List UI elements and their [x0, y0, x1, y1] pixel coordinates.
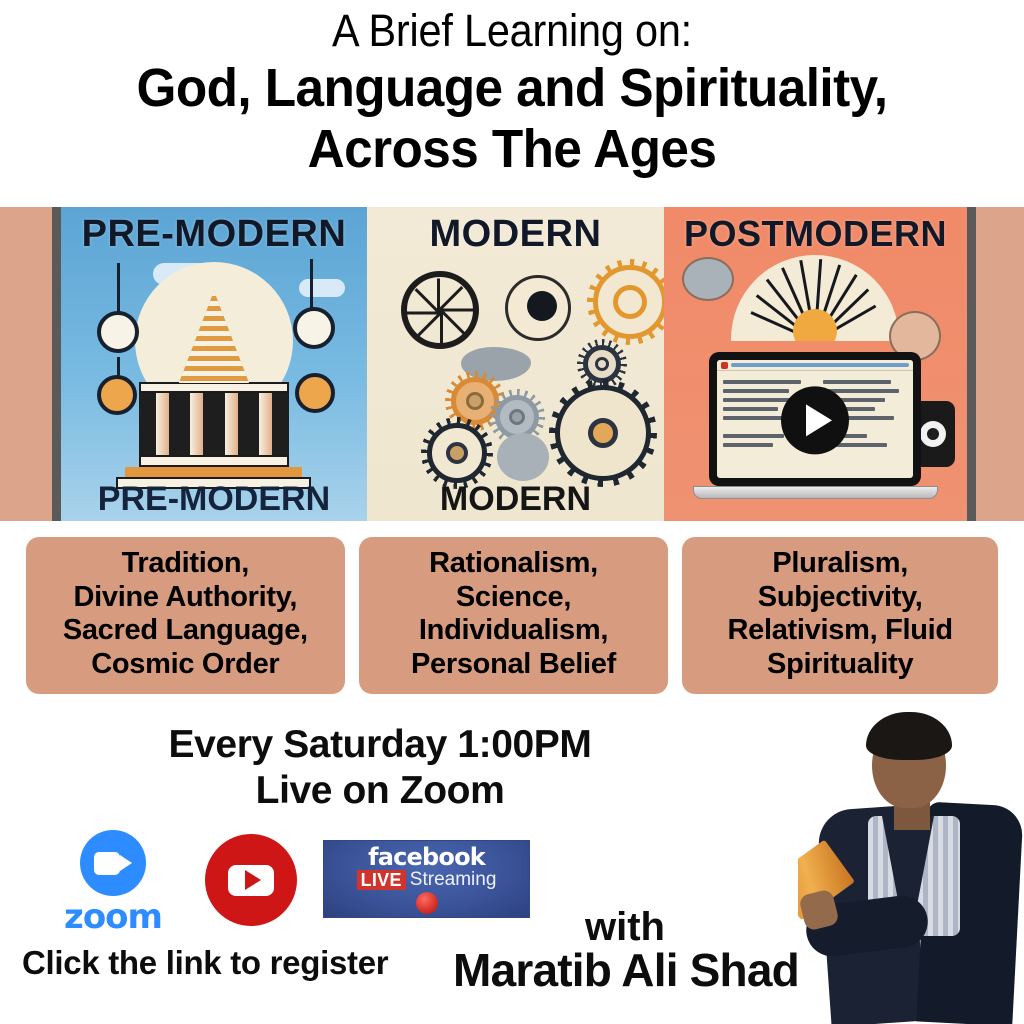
panel-heading-pre-modern: PRE-MODERN	[61, 213, 367, 256]
browser-bar	[717, 360, 913, 371]
temple-column	[225, 393, 238, 455]
era-illustration-panel: PRE-MODERN PRE-MODERN	[0, 207, 1024, 521]
pendulum-rod-icon	[310, 259, 313, 309]
panel-frame: PRE-MODERN PRE-MODERN	[52, 207, 976, 521]
coin-icon	[295, 373, 335, 413]
compass-icon	[97, 311, 139, 353]
disc-shape	[497, 433, 549, 481]
panel-right-margin	[976, 207, 1024, 521]
panel-left-margin	[0, 207, 52, 521]
gear-icon	[555, 385, 651, 481]
gear-icon	[583, 345, 621, 383]
laptop-lid	[709, 352, 921, 486]
zoom-logo[interactable]: zoom	[48, 830, 178, 937]
panel-footer-modern: MODERN	[367, 480, 664, 519]
schedule-text: Every Saturday 1:00PM Live on Zoom	[0, 722, 760, 814]
browser-dot	[721, 362, 728, 369]
zoom-wordmark: zoom	[48, 897, 178, 937]
title-main-line-2: Across The Ages	[26, 119, 999, 179]
keyword-box-post-modern: Pluralism, Subjectivity, Relativism, Flu…	[682, 537, 998, 694]
hair	[866, 712, 952, 760]
title-main-line-1: God, Language and Spirituality,	[26, 58, 999, 118]
keyword-box-modern: Rationalism, Science, Individualism, Per…	[359, 537, 669, 694]
temple-column	[156, 393, 169, 455]
eye-pupil	[527, 291, 557, 321]
panel-heading-post-modern: POSTMODERN	[664, 213, 967, 255]
coin-icon	[97, 375, 137, 415]
keyword-box-pre-modern: Tradition, Divine Authority, Sacred Lang…	[26, 537, 345, 694]
laptop-screen	[717, 360, 913, 478]
wheel-icon	[401, 271, 479, 349]
youtube-logo[interactable]	[205, 834, 297, 926]
temple-illustration	[139, 291, 289, 489]
youtube-play-icon	[228, 865, 274, 896]
presenter-photo	[798, 704, 1024, 1024]
temple-base	[139, 455, 289, 467]
event-poster: A Brief Learning on: God, Language and S…	[0, 0, 1024, 1024]
laptop-illustration	[709, 352, 921, 499]
temple-columns	[139, 393, 289, 455]
temple-base	[125, 467, 302, 477]
temple-column	[190, 393, 203, 455]
host-name: Maratib Ali Shad	[416, 946, 836, 994]
temple-spire-shape	[179, 291, 249, 383]
sunburst-icon	[731, 255, 899, 341]
with-label: with	[430, 906, 820, 948]
schedule-line-1: Every Saturday 1:00PM	[0, 722, 760, 768]
live-badge: LIVE	[357, 870, 406, 890]
laptop-base	[693, 486, 939, 499]
page-title: A Brief Learning on: God, Language and S…	[0, 6, 1024, 179]
panel-heading-modern: MODERN	[367, 213, 664, 256]
pendulum-rod-icon	[117, 263, 120, 317]
gear-icon	[495, 395, 539, 439]
zoom-camera-icon	[80, 830, 146, 896]
panel-footer-pre-modern: PRE-MODERN	[61, 480, 367, 519]
title-subtitle-line: A Brief Learning on:	[41, 6, 983, 56]
illustration-pre-modern: PRE-MODERN PRE-MODERN	[61, 207, 367, 521]
streaming-label: Streaming	[410, 870, 497, 889]
temple-column	[259, 393, 272, 455]
browser-address-line	[731, 363, 909, 367]
keyword-box-row: Tradition, Divine Authority, Sacred Lang…	[0, 537, 1024, 694]
disc-icon	[682, 257, 734, 301]
illustration-modern: MODERN MODERN	[367, 207, 664, 521]
temple-roof	[139, 382, 289, 393]
facebook-wordmark: facebook	[368, 845, 485, 869]
register-cta[interactable]: Click the link to register	[22, 944, 422, 982]
gear-icon	[427, 423, 487, 483]
illustration-post-modern: POSTMODERN	[664, 207, 967, 521]
play-button-icon[interactable]	[781, 386, 849, 454]
compass-icon	[293, 307, 335, 349]
cloud-shape	[299, 279, 345, 297]
gear-icon	[593, 265, 664, 339]
schedule-line-2: Live on Zoom	[0, 768, 760, 814]
spire-stripes	[179, 291, 249, 383]
